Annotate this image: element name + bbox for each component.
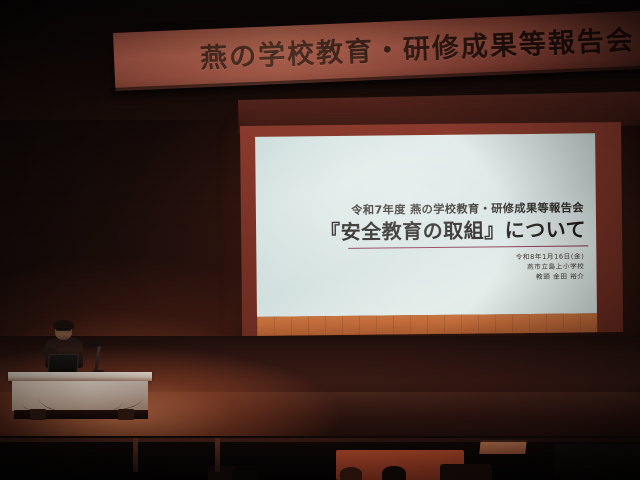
photo-scene: 燕の学校教育・研修成果等報告会 令和7年度 燕の学校教育・研修成果等報告会 『安… — [0, 0, 640, 480]
table-foot-left — [30, 409, 46, 420]
audience-head-2 — [340, 467, 362, 480]
slide-divider-rule — [348, 245, 588, 249]
seat-back-small — [440, 464, 492, 480]
event-banner-text: 燕の学校教育・研修成果等報告会 — [199, 18, 635, 75]
projection-screen-frame: 令和7年度 燕の学校教育・研修成果等報告会 『安全教育の取組』について 令和8年… — [240, 122, 623, 336]
projection-screen-surface: 令和7年度 燕の学校教育・研修成果等報告会 『安全教育の取組』について 令和8年… — [255, 133, 597, 317]
audience-head-3 — [382, 466, 406, 480]
audience-seating — [0, 436, 640, 480]
slide-meta-presenter: 教頭 金田 裕介 — [516, 271, 585, 282]
seat-post-1 — [133, 438, 138, 472]
table-top-surface — [8, 372, 152, 381]
slide-title: 『安全教育の取組』について — [256, 213, 586, 245]
slide-meta-block: 令和8年1月16日(金) 燕市立島上小学校 教頭 金田 裕介 — [516, 251, 585, 282]
seat-post-2 — [215, 438, 220, 472]
projected-floor-strip — [257, 313, 597, 336]
foreground-object — [479, 440, 526, 454]
audience-head-1 — [232, 465, 258, 480]
table-foot-right — [118, 409, 134, 420]
seat-back-dark — [554, 444, 640, 480]
stage-edge-rail — [0, 438, 640, 442]
presenter-table — [8, 360, 156, 420]
glasses-icon — [56, 328, 71, 331]
slide: 令和7年度 燕の学校教育・研修成果等報告会 『安全教育の取組』について 令和8年… — [255, 133, 597, 317]
